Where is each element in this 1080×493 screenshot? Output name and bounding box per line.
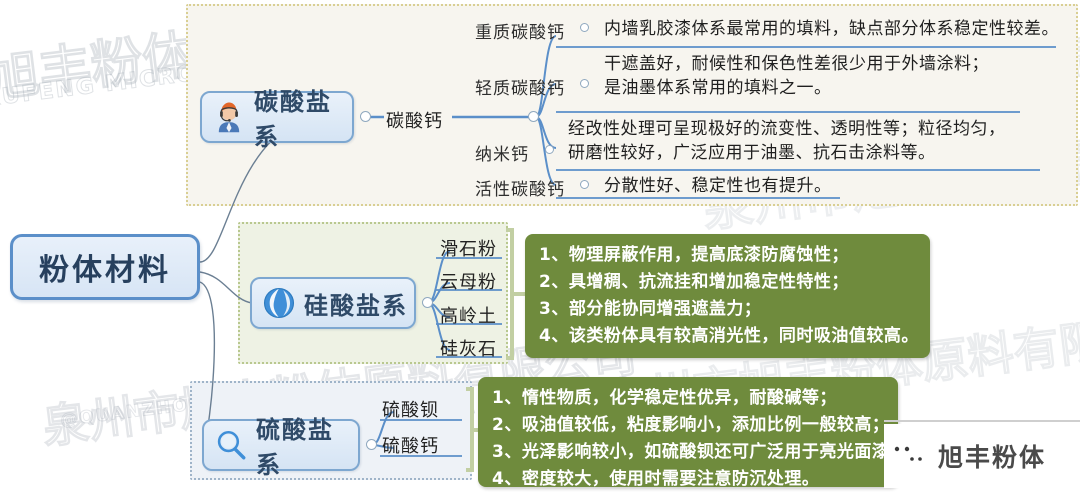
- root-node[interactable]: 粉体材料: [10, 234, 200, 300]
- bullet-ring-active-caco3: [580, 180, 589, 189]
- sub-item-light-caco3[interactable]: 轻质碳酸钙: [475, 74, 565, 99]
- connector-ring-carbonate: [360, 111, 371, 122]
- category-label-sulfate: 硫酸盐系: [256, 410, 358, 480]
- callout-sulfate-row-2: 2、吸油值较低，粘度影响小，添加比例一般较高；: [492, 412, 884, 439]
- sub-item-nano-calcium[interactable]: 纳米钙: [475, 140, 529, 165]
- connector-ring-carbonate-spine: [528, 111, 539, 122]
- wechat-account-badge[interactable]: 旭丰粉体: [884, 424, 1080, 488]
- bullet-ring-nano-calcium: [545, 145, 554, 154]
- callout-silicate-row-1: 1、物理屏蔽作用，提高底漆防腐蚀性；: [539, 242, 916, 269]
- sub-item-active-caco3[interactable]: 活性碳酸钙: [475, 175, 565, 200]
- callout-silicate-row-3: 3、部分能协同增强遮盖力；: [539, 296, 916, 323]
- magnifier-icon: [214, 428, 248, 462]
- customer-service-avatar-icon: [212, 100, 246, 134]
- wechat-account-name: 旭丰粉体: [938, 438, 1046, 474]
- desc-light-caco3-line2: 是油墨体系常用的填料之一。: [604, 76, 832, 101]
- sub-item-wollastonite[interactable]: 硅灰石: [440, 335, 497, 361]
- callout-sulfate-properties: 1、惰性物质，化学稳定性优异，耐酸碱等； 2、吸油值较低，粘度影响小，添加比例一…: [478, 377, 898, 487]
- connector-ring-silicate: [422, 297, 433, 308]
- bullet-ring-light-caco3: [580, 79, 589, 88]
- watermark-handle: @QUANZHOU: [59, 393, 205, 431]
- callout-silicate-row-4: 4、该类粉体具有较高消光性，同时吸油值较高。: [539, 323, 916, 350]
- sub-item-mica-powder[interactable]: 云母粉: [440, 268, 497, 294]
- category-node-silicate[interactable]: 硅酸盐系: [250, 277, 416, 329]
- sub-item-heavy-caco3[interactable]: 重质碳酸钙: [475, 18, 565, 43]
- callout-sulfate-row-4: 4、密度较大，使用时需要注意防沉处理。: [492, 466, 884, 493]
- footer-divider: [884, 420, 1080, 422]
- category-node-sulfate[interactable]: 硫酸盐系: [202, 419, 360, 471]
- callout-silicate-row-2: 2、具增稠、抗流挂和增加稳定性特性；: [539, 269, 916, 296]
- globe-icon: [262, 286, 296, 320]
- category-label-carbonate: 碳酸盐系: [254, 82, 352, 152]
- category-label-silicate: 硅酸盐系: [304, 286, 408, 321]
- callout-sulfate-row-1: 1、惰性物质，化学稳定性优异，耐酸碱等；: [492, 385, 884, 412]
- sub-item-talc-powder[interactable]: 滑石粉: [440, 235, 497, 261]
- desc-light-caco3-line1: 干遮盖好，耐候性和保色性差很少用于外墙涂料；: [604, 52, 989, 77]
- desc-heavy-caco3-line1: 内墙乳胶漆体系最常用的填料，缺点部分体系稳定性较差。: [604, 17, 1059, 42]
- desc-active-caco3-line1: 分散性好、稳定性也有提升。: [604, 174, 832, 199]
- sub-item-kaolin[interactable]: 高岭土: [440, 302, 497, 328]
- category-node-carbonate[interactable]: 碳酸盐系: [200, 91, 354, 143]
- mindmap-canvas: 旭丰粉体原料 XUFENG MICRO-POWDER 旭丰粉体原料 XUFENG…: [0, 0, 1080, 488]
- group-label-calcium-carbonate: 碳酸钙: [386, 107, 443, 133]
- connector-ring-sulfate: [366, 439, 377, 450]
- wechat-icon: [884, 436, 930, 476]
- callout-sulfate-row-3: 3、光泽影响较小，如硫酸钡还可广泛用于亮光面漆底: [492, 439, 884, 466]
- sub-item-calcium-sulfate[interactable]: 硫酸钙: [382, 432, 439, 458]
- callout-silicate-properties: 1、物理屏蔽作用，提高底漆防腐蚀性； 2、具增稠、抗流挂和增加稳定性特性； 3、…: [525, 234, 930, 358]
- desc-nano-calcium-line2: 研磨性较好，广泛应用于油墨、抗石击涂料等。: [568, 141, 936, 166]
- bullet-ring-heavy-caco3: [580, 23, 589, 32]
- sub-item-barium-sulfate[interactable]: 硫酸钡: [382, 396, 439, 422]
- root-node-label: 粉体材料: [39, 245, 171, 289]
- desc-nano-calcium-line1: 经改性处理可呈现极好的流变性、透明性等；粒径均匀，: [568, 117, 1006, 142]
